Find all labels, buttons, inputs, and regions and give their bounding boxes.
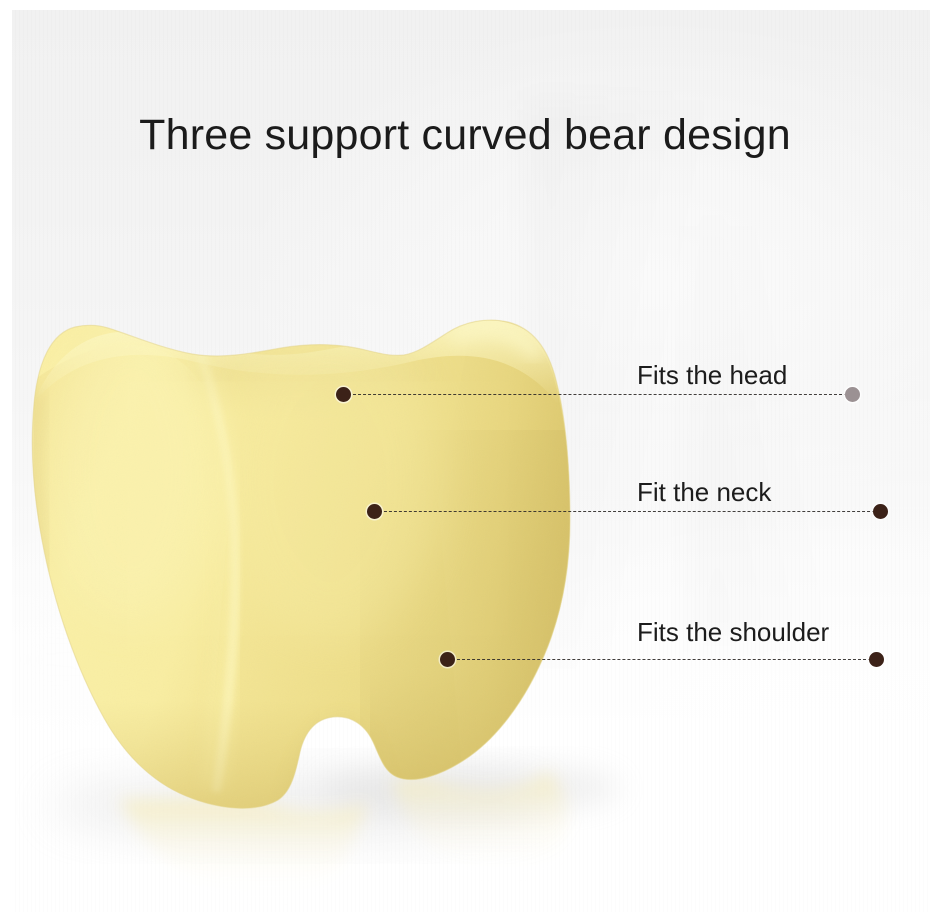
- callout-line-fit-the-neck: [374, 511, 880, 512]
- product-feature-poster: Three support curved bear design: [0, 0, 930, 912]
- backdrop-fold: [691, 226, 820, 641]
- callout-label-fits-the-head: Fits the head: [637, 360, 787, 391]
- callout-end-dot-fits-the-head: [845, 387, 860, 402]
- callout-line-fits-the-shoulder: [447, 659, 876, 660]
- callout-anchor-dot-fits-the-shoulder: [440, 652, 455, 667]
- callout-anchor-dot-fits-the-head: [336, 387, 351, 402]
- callout-anchor-dot-fit-the-neck: [367, 504, 382, 519]
- backdrop-highlight: [30, 479, 269, 840]
- callout-line-fits-the-head: [343, 394, 852, 395]
- callout-label-fit-the-neck: Fit the neck: [637, 477, 771, 508]
- callout-label-fits-the-shoulder: Fits the shoulder: [637, 617, 829, 648]
- callout-end-dot-fits-the-shoulder: [869, 652, 884, 667]
- page-title: Three support curved bear design: [0, 112, 930, 159]
- callout-end-dot-fit-the-neck: [873, 504, 888, 519]
